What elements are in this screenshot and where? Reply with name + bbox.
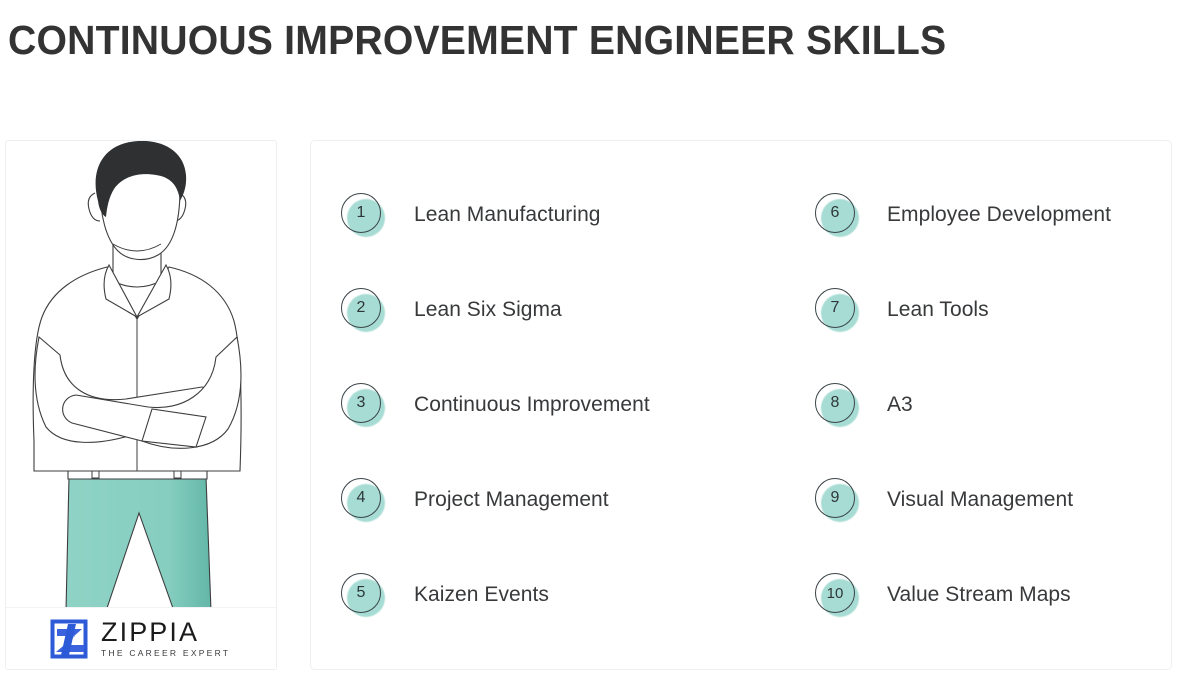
skills-grid: 1 Lean Manufacturing 2 Lean Six Sigma 3 … [311,141,1171,669]
skill-number-badge: 1 [338,191,386,239]
skill-number-badge: 6 [812,191,860,239]
skill-label: Continuous Improvement [414,393,650,417]
skill-item-2[interactable]: 2 Lean Six Sigma [311,262,766,357]
zippia-z-mark-icon [48,618,90,660]
skill-number-badge: 8 [812,381,860,429]
illustration-card: ZIPPIA THE CAREER EXPERT [5,140,277,670]
skill-label: A3 [887,393,913,417]
badge-ring: 7 [815,288,855,328]
skill-label: Lean Six Sigma [414,298,562,322]
skill-item-9[interactable]: 9 Visual Management [766,453,1171,548]
skill-label: Lean Manufacturing [414,203,601,227]
badge-ring: 3 [341,383,381,423]
skill-item-6[interactable]: 6 Employee Development [766,167,1171,262]
badge-ring: 1 [341,193,381,233]
badge-ring: 6 [815,193,855,233]
skill-label: Value Stream Maps [887,583,1071,607]
skill-label: Lean Tools [887,298,989,322]
badge-number: 6 [830,205,839,221]
badge-number: 10 [827,586,844,601]
skill-item-7[interactable]: 7 Lean Tools [766,262,1171,357]
skill-number-badge: 7 [812,286,860,334]
badge-ring: 9 [815,478,855,518]
skill-label: Visual Management [887,488,1073,512]
badge-number: 4 [356,490,365,506]
badge-number: 9 [830,490,839,506]
badge-number: 2 [356,300,365,316]
zippia-wordmark: ZIPPIA [101,618,230,646]
skills-card: 1 Lean Manufacturing 2 Lean Six Sigma 3 … [310,140,1172,670]
skill-item-8[interactable]: 8 A3 [766,357,1171,452]
trousers-shape [66,477,211,611]
skill-item-4[interactable]: 4 Project Management [311,453,766,548]
skill-number-badge: 5 [338,571,386,619]
badge-ring: 8 [815,383,855,423]
badge-ring: 2 [341,288,381,328]
skill-number-badge: 3 [338,381,386,429]
person-illustration [6,141,276,611]
page-title: CONTINUOUS IMPROVEMENT ENGINEER SKILLS [8,14,1087,66]
badge-number: 1 [356,205,365,221]
skill-item-5[interactable]: 5 Kaizen Events [311,548,766,643]
zippia-logo-text: ZIPPIA THE CAREER EXPERT [101,618,230,659]
badge-number: 8 [830,395,839,411]
skill-label: Kaizen Events [414,583,549,607]
skill-number-badge: 10 [812,571,860,619]
badge-number: 5 [356,585,365,601]
badge-number: 3 [356,395,365,411]
skill-number-badge: 9 [812,476,860,524]
badge-number: 7 [830,300,839,316]
skill-item-3[interactable]: 3 Continuous Improvement [311,357,766,452]
skill-item-1[interactable]: 1 Lean Manufacturing [311,167,766,262]
skill-number-badge: 2 [338,286,386,334]
zippia-logo: ZIPPIA THE CAREER EXPERT [6,607,276,669]
zippia-tagline: THE CAREER EXPERT [101,647,230,659]
skill-label: Employee Development [887,203,1111,227]
skill-item-10[interactable]: 10 Value Stream Maps [766,548,1171,643]
badge-ring: 4 [341,478,381,518]
skill-label: Project Management [414,488,609,512]
skill-number-badge: 4 [338,476,386,524]
